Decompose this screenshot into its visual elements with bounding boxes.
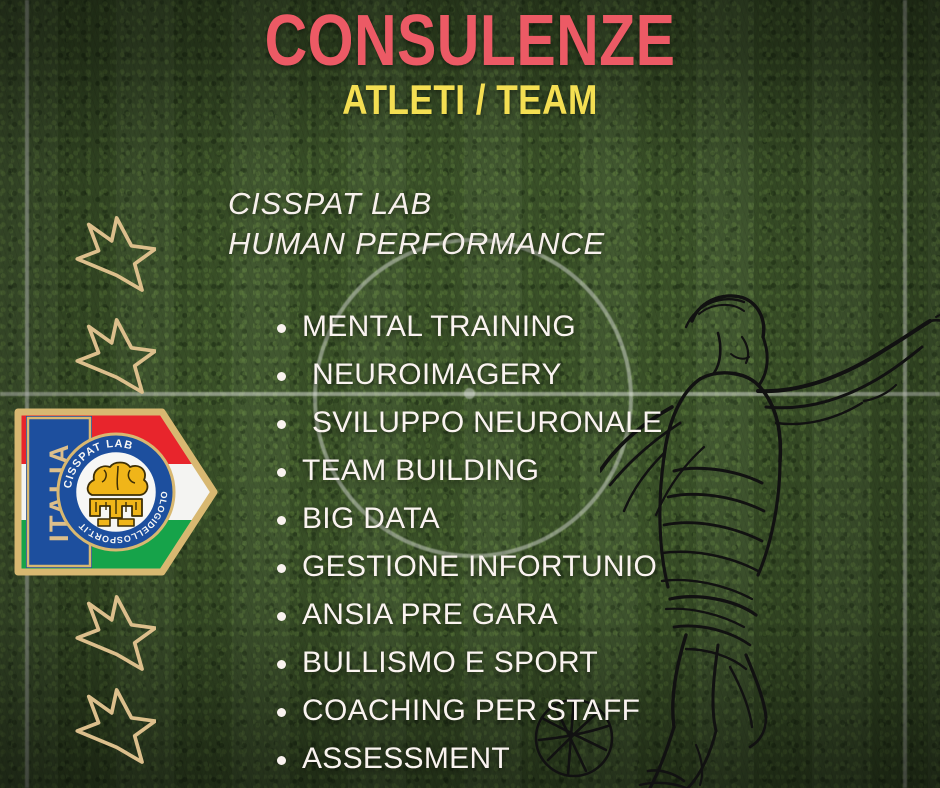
- brand-line-2: HUMAN PERFORMANCE: [228, 224, 605, 264]
- list-item: BIG DATA: [268, 495, 828, 543]
- brand-name: CISSPAT LAB HUMAN PERFORMANCE: [228, 184, 605, 265]
- cisspat-federation-badge: ITALIA CISSPAT LAB PSICOLOGIDELLOSPORT.I…: [12, 406, 220, 578]
- consulenze-poster: CONSULENZE ATLETI / TEAM CISSPAT LAB HUM…: [0, 0, 940, 788]
- headline: CONSULENZE ATLETI / TEAM: [0, 6, 940, 121]
- list-item: ANSIA PRE GARA: [268, 591, 828, 639]
- list-item: BULLISMO E SPORT: [268, 639, 828, 687]
- star-icon: [74, 592, 156, 674]
- brain-icon: [88, 463, 148, 527]
- page-title: CONSULENZE: [85, 6, 856, 77]
- star-icon: [74, 213, 156, 295]
- star-icon: [74, 685, 156, 767]
- services-list: MENTAL TRAINING NEUROIMAGERY SVILUPPO NE…: [268, 303, 828, 783]
- list-item: ASSESSMENT: [268, 735, 828, 783]
- list-item: NEUROIMAGERY: [268, 351, 828, 399]
- list-item: MENTAL TRAINING: [268, 303, 828, 351]
- star-icon: [74, 315, 156, 397]
- list-item: TEAM BUILDING: [268, 447, 828, 495]
- list-item: COACHING PER STAFF: [268, 687, 828, 735]
- brand-line-1: CISSPAT LAB: [228, 184, 605, 224]
- list-item: SVILUPPO NEURONALE: [268, 399, 828, 447]
- list-item: GESTIONE INFORTUNIO: [268, 543, 828, 591]
- page-subtitle: ATLETI / TEAM: [75, 79, 865, 121]
